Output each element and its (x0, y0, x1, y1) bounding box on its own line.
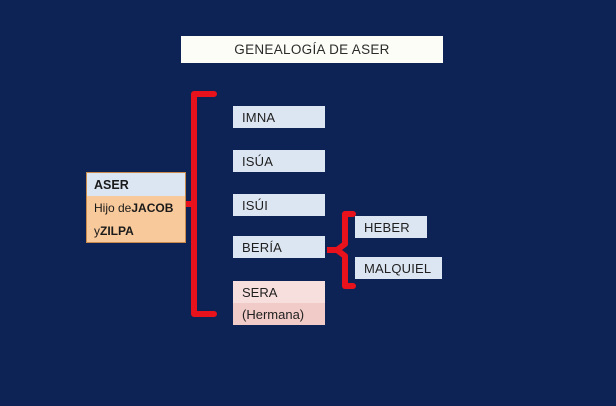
child-box-isua: ISÚA (233, 150, 325, 172)
aser-father-row: Hijo de JACOB (87, 196, 185, 219)
child-box-imna: IMNA (233, 106, 325, 128)
diagram-title-box: GENEALOGÍA DE ASER (181, 36, 443, 63)
grandchild-box-malquiel: MALQUIEL (355, 257, 442, 279)
sera-name: SERA (233, 285, 277, 300)
aser-father-name: JACOB (131, 201, 173, 215)
daughter-box-sera: SERA (Hermana) (233, 281, 325, 325)
page-title: GENEALOGÍA DE ASER (234, 42, 389, 57)
sera-relation: (Hermana) (233, 307, 304, 322)
aser-name-row: ASER (87, 173, 185, 196)
child-label-beria: BERÍA (233, 240, 282, 255)
aser-mother-name: ZILPA (100, 224, 134, 238)
aser-name: ASER (94, 178, 129, 192)
child-box-beria: BERÍA (233, 236, 325, 258)
main-bracket-connector (186, 88, 236, 320)
grandchild-label-malquiel: MALQUIEL (355, 261, 431, 276)
aser-mother-row: y ZILPA (87, 219, 185, 242)
child-box-isui: ISÚI (233, 194, 325, 216)
child-label-imna: IMNA (233, 110, 275, 125)
grandchild-box-heber: HEBER (355, 216, 427, 238)
aser-root-box: ASER Hijo de JACOB y ZILPA (86, 172, 186, 243)
child-label-isui: ISÚI (233, 198, 268, 213)
child-label-isua: ISÚA (233, 154, 273, 169)
aser-father-prefix: Hijo de (94, 201, 131, 215)
sera-relation-row: (Hermana) (233, 303, 325, 325)
grandchild-label-heber: HEBER (355, 220, 410, 235)
sera-name-row: SERA (233, 281, 325, 303)
genealogy-diagram: GENEALOGÍA DE ASER ASER Hijo de JACOB y … (0, 0, 616, 406)
